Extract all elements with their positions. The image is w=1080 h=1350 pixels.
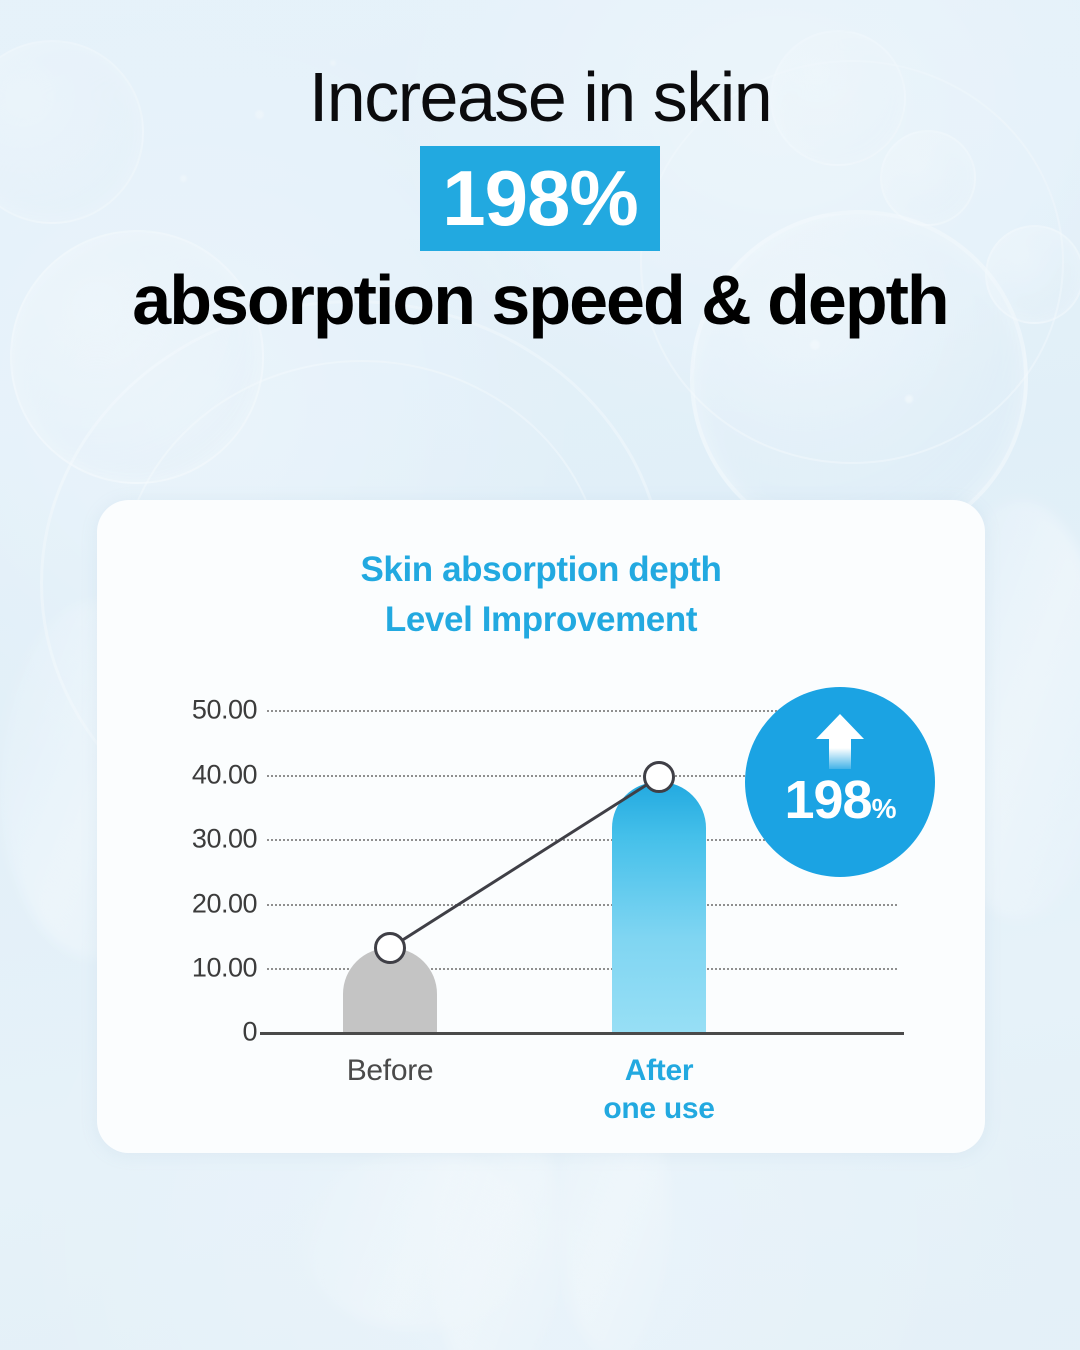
y-tick-label: 30.00 — [192, 824, 257, 855]
x-axis-label-after: Afterone use — [603, 1052, 714, 1127]
y-tick-label: 0 — [242, 1017, 257, 1048]
badge-number: 198 — [784, 770, 871, 830]
x-axis-label-before: Before — [347, 1052, 434, 1090]
data-point-before — [374, 932, 406, 964]
arrow-up-icon — [812, 713, 868, 769]
bar-after-one-use — [612, 782, 706, 1032]
gridline-20 — [267, 904, 897, 906]
headline-line-1: Increase in skin — [0, 62, 1080, 132]
data-point-after — [643, 761, 675, 793]
badge-unit: % — [872, 793, 896, 824]
increase-badge: 198% — [745, 687, 935, 877]
poster-canvas: Increase in skin 198% absorption speed &… — [0, 0, 1080, 1350]
headline-percent-highlight: 198% — [420, 146, 660, 251]
badge-value: 198% — [745, 773, 935, 827]
y-tick-label: 20.00 — [192, 888, 257, 919]
x-axis-line — [260, 1032, 904, 1035]
headline-block: Increase in skin 198% absorption speed &… — [0, 62, 1080, 335]
headline-line-3: absorption speed & depth — [0, 265, 1080, 335]
y-axis-labels: 50.00 40.00 30.00 20.00 10.00 0 — [167, 500, 257, 1153]
y-tick-label: 50.00 — [192, 695, 257, 726]
y-tick-label: 10.00 — [192, 953, 257, 984]
y-tick-label: 40.00 — [192, 759, 257, 790]
headline-percent-wrap: 198% — [0, 146, 1080, 251]
